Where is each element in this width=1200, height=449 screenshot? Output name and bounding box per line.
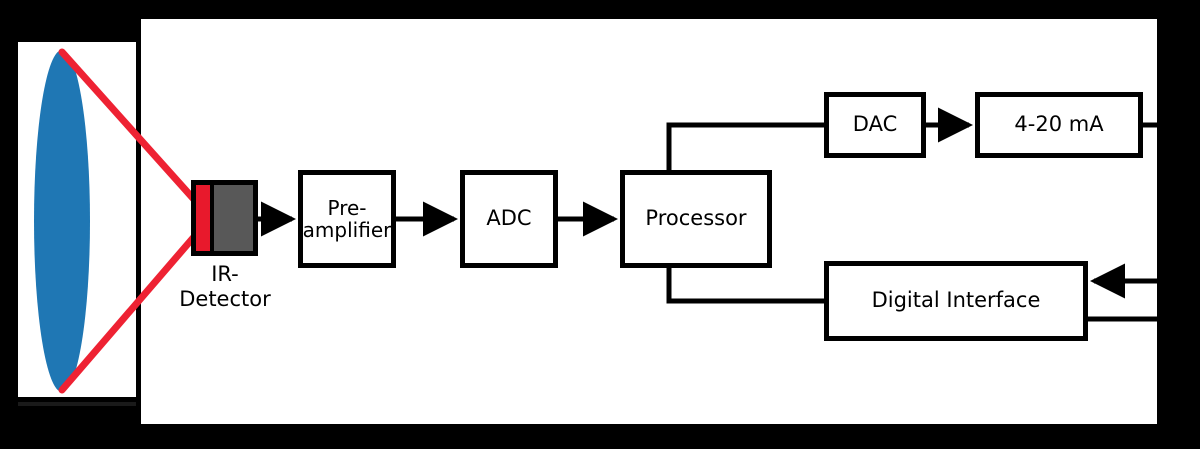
ir-detector-window — [196, 185, 210, 251]
ir-detector-caption-line1: IR- — [150, 262, 300, 287]
block-preamplifier[interactable]: Pre- amplifier — [298, 170, 396, 268]
block-processor[interactable]: Processor — [620, 170, 772, 268]
block-dac[interactable]: DAC — [824, 92, 926, 158]
ir-detector-caption: IR- Detector — [150, 262, 300, 312]
block-digital-interface-label: Digital Interface — [872, 289, 1041, 313]
optics-panel — [18, 42, 136, 397]
block-digital-interface[interactable]: Digital Interface — [824, 261, 1088, 341]
ir-detector-body — [214, 185, 253, 251]
block-adc[interactable]: ADC — [460, 170, 558, 268]
block-adc-label: ADC — [486, 207, 531, 231]
optics-baseline — [18, 402, 136, 406]
block-current-loop-output[interactable]: 4-20 mA — [975, 92, 1143, 158]
block-preamplifier-label-line2: amplifier — [303, 219, 392, 241]
ir-detector — [191, 180, 258, 256]
block-dac-label: DAC — [853, 113, 897, 137]
block-preamplifier-label-line1: Pre- — [303, 197, 392, 219]
diagram-canvas: IR- Detector — [0, 0, 1200, 449]
block-current-loop-label: 4-20 mA — [1014, 113, 1103, 137]
ir-detector-caption-line2: Detector — [150, 287, 300, 312]
block-processor-label: Processor — [645, 207, 746, 231]
